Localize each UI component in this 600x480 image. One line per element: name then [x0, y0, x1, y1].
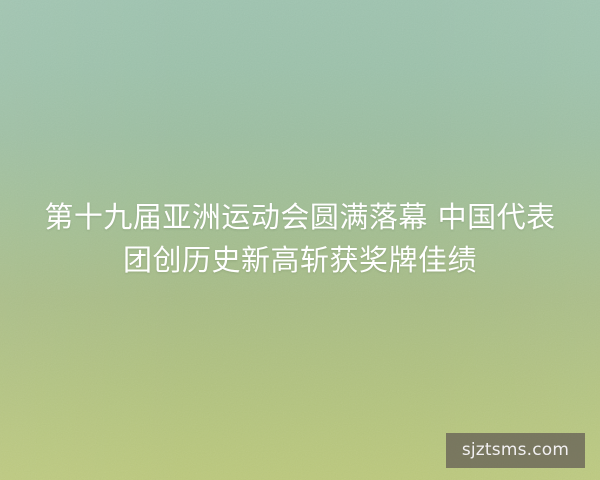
watermark-text: sjztsms.com [462, 442, 569, 459]
watermark-badge: sjztsms.com [446, 433, 585, 468]
image-canvas: 第十九届亚洲运动会圆满落幕 中国代表 团创历史新高斩获奖牌佳绩 sjztsms.… [0, 0, 600, 480]
headline: 第十九届亚洲运动会圆满落幕 中国代表 团创历史新高斩获奖牌佳绩 [0, 196, 600, 282]
headline-line-2: 团创历史新高斩获奖牌佳绩 [26, 239, 574, 282]
headline-line-1: 第十九届亚洲运动会圆满落幕 中国代表 [26, 196, 574, 239]
